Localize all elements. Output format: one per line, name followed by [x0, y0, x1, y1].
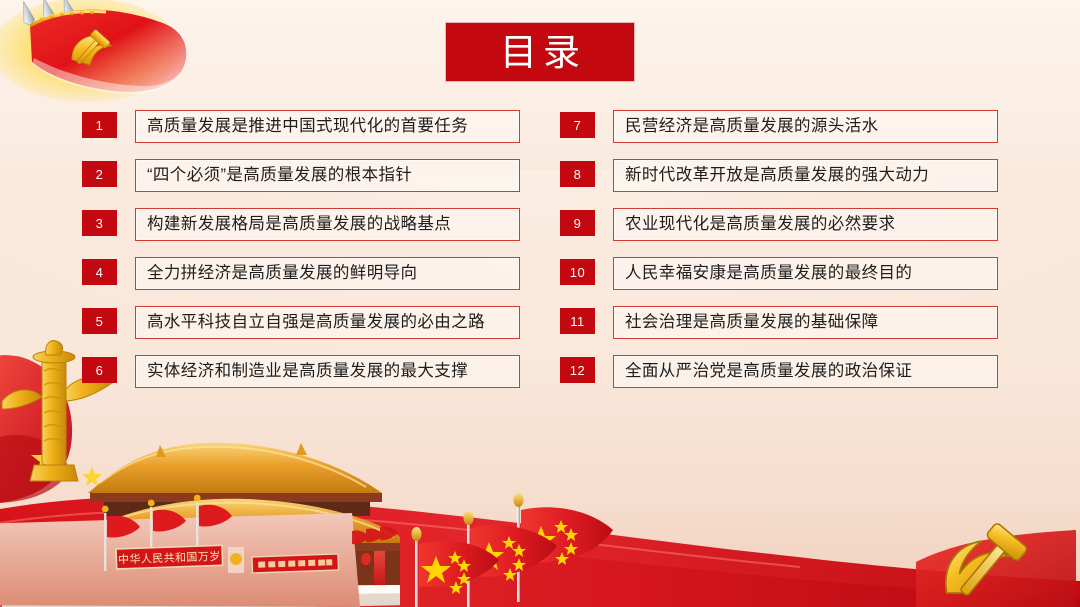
list-item[interactable]: 8 新时代改革开放是高质量发展的强大动力: [560, 159, 1040, 208]
list-item[interactable]: 11 社会治理是高质量发展的基础保障: [560, 306, 1040, 355]
list-item[interactable]: 6 实体经济和制造业是高质量发展的最大支撑: [82, 355, 562, 404]
toc-item-box[interactable]: 构建新发展格局是高质量发展的战略基点: [135, 208, 520, 241]
toc-item-box[interactable]: 高水平科技自立自强是高质量发展的必由之路: [135, 306, 520, 339]
toc-item-label: 高水平科技自立自强是高质量发展的必由之路: [136, 314, 485, 331]
toc-number-badge: 3: [82, 210, 117, 236]
toc-number-badge: 7: [560, 112, 595, 138]
toc-number-badge: 5: [82, 308, 117, 334]
list-item[interactable]: 9 农业现代化是高质量发展的必然要求: [560, 208, 1040, 257]
toc-number-badge: 6: [82, 357, 117, 383]
toc-item-label: “四个必须”是高质量发展的根本指针: [136, 167, 412, 184]
toc-number-badge: 8: [560, 161, 595, 187]
list-item[interactable]: 2 “四个必须”是高质量发展的根本指针: [82, 159, 562, 208]
list-item[interactable]: 3 构建新发展格局是高质量发展的战略基点: [82, 208, 562, 257]
list-item[interactable]: 12 全面从严治党是高质量发展的政治保证: [560, 355, 1040, 404]
toc-item-box[interactable]: 全面从严治党是高质量发展的政治保证: [613, 355, 998, 388]
toc-item-label: 人民幸福安康是高质量发展的最终目的: [614, 265, 912, 282]
toc-item-box[interactable]: 农业现代化是高质量发展的必然要求: [613, 208, 998, 241]
toc-column-left: 1 高质量发展是推进中国式现代化的首要任务 2 “四个必须”是高质量发展的根本指…: [82, 110, 562, 404]
toc-item-label: 构建新发展格局是高质量发展的战略基点: [136, 216, 451, 233]
toc-number-badge: 2: [82, 161, 117, 187]
china-national-flag-icon: [405, 492, 665, 607]
toc-number-badge: 9: [560, 210, 595, 236]
list-item[interactable]: 10 人民幸福安康是高质量发展的最终目的: [560, 257, 1040, 306]
toc-item-label: 高质量发展是推进中国式现代化的首要任务: [136, 118, 468, 135]
toc-number-badge: 4: [82, 259, 117, 285]
toc-item-label: 新时代改革开放是高质量发展的强大动力: [614, 167, 929, 184]
toc-item-box[interactable]: 人民幸福安康是高质量发展的最终目的: [613, 257, 998, 290]
list-item[interactable]: 5 高水平科技自立自强是高质量发展的必由之路: [82, 306, 562, 355]
toc-number-badge: 12: [560, 357, 595, 383]
toc-item-label: 农业现代化是高质量发展的必然要求: [614, 216, 895, 233]
toc-column-right: 7 民营经济是高质量发展的源头活水 8 新时代改革开放是高质量发展的强大动力 9…: [560, 110, 1040, 404]
toc-item-label: 实体经济和制造业是高质量发展的最大支撑: [136, 363, 468, 380]
toc-item-label: 社会治理是高质量发展的基础保障: [614, 314, 879, 331]
toc-item-label: 全力拼经济是高质量发展的鲜明导向: [136, 265, 417, 282]
slide-title-box: 目录: [445, 22, 635, 82]
list-item[interactable]: 1 高质量发展是推进中国式现代化的首要任务: [82, 110, 562, 159]
toc-number-badge: 11: [560, 308, 595, 334]
toc-item-box[interactable]: 社会治理是高质量发展的基础保障: [613, 306, 998, 339]
toc-number-badge: 1: [82, 112, 117, 138]
page-title: 目录: [494, 34, 586, 71]
list-item[interactable]: 7 民营经济是高质量发展的源头活水: [560, 110, 1040, 159]
hammer-sickle-emblem-icon: [916, 516, 1076, 607]
toc-item-label: 民营经济是高质量发展的源头活水: [614, 118, 879, 135]
cpc-party-flag-icon: [0, 0, 194, 122]
toc-item-box[interactable]: 高质量发展是推进中国式现代化的首要任务: [135, 110, 520, 143]
toc-item-box[interactable]: 实体经济和制造业是高质量发展的最大支撑: [135, 355, 520, 388]
toc-item-box[interactable]: 民营经济是高质量发展的源头活水: [613, 110, 998, 143]
toc-item-box[interactable]: 新时代改革开放是高质量发展的强大动力: [613, 159, 998, 192]
toc-number-badge: 10: [560, 259, 595, 285]
list-item[interactable]: 4 全力拼经济是高质量发展的鲜明导向: [82, 257, 562, 306]
toc-item-box[interactable]: “四个必须”是高质量发展的根本指针: [135, 159, 520, 192]
toc-item-box[interactable]: 全力拼经济是高质量发展的鲜明导向: [135, 257, 520, 290]
toc-item-label: 全面从严治党是高质量发展的政治保证: [614, 363, 912, 380]
table-of-contents: 1 高质量发展是推进中国式现代化的首要任务 2 “四个必须”是高质量发展的根本指…: [0, 110, 1080, 410]
slide-root: 中华人民共和国万岁: [0, 0, 1080, 607]
